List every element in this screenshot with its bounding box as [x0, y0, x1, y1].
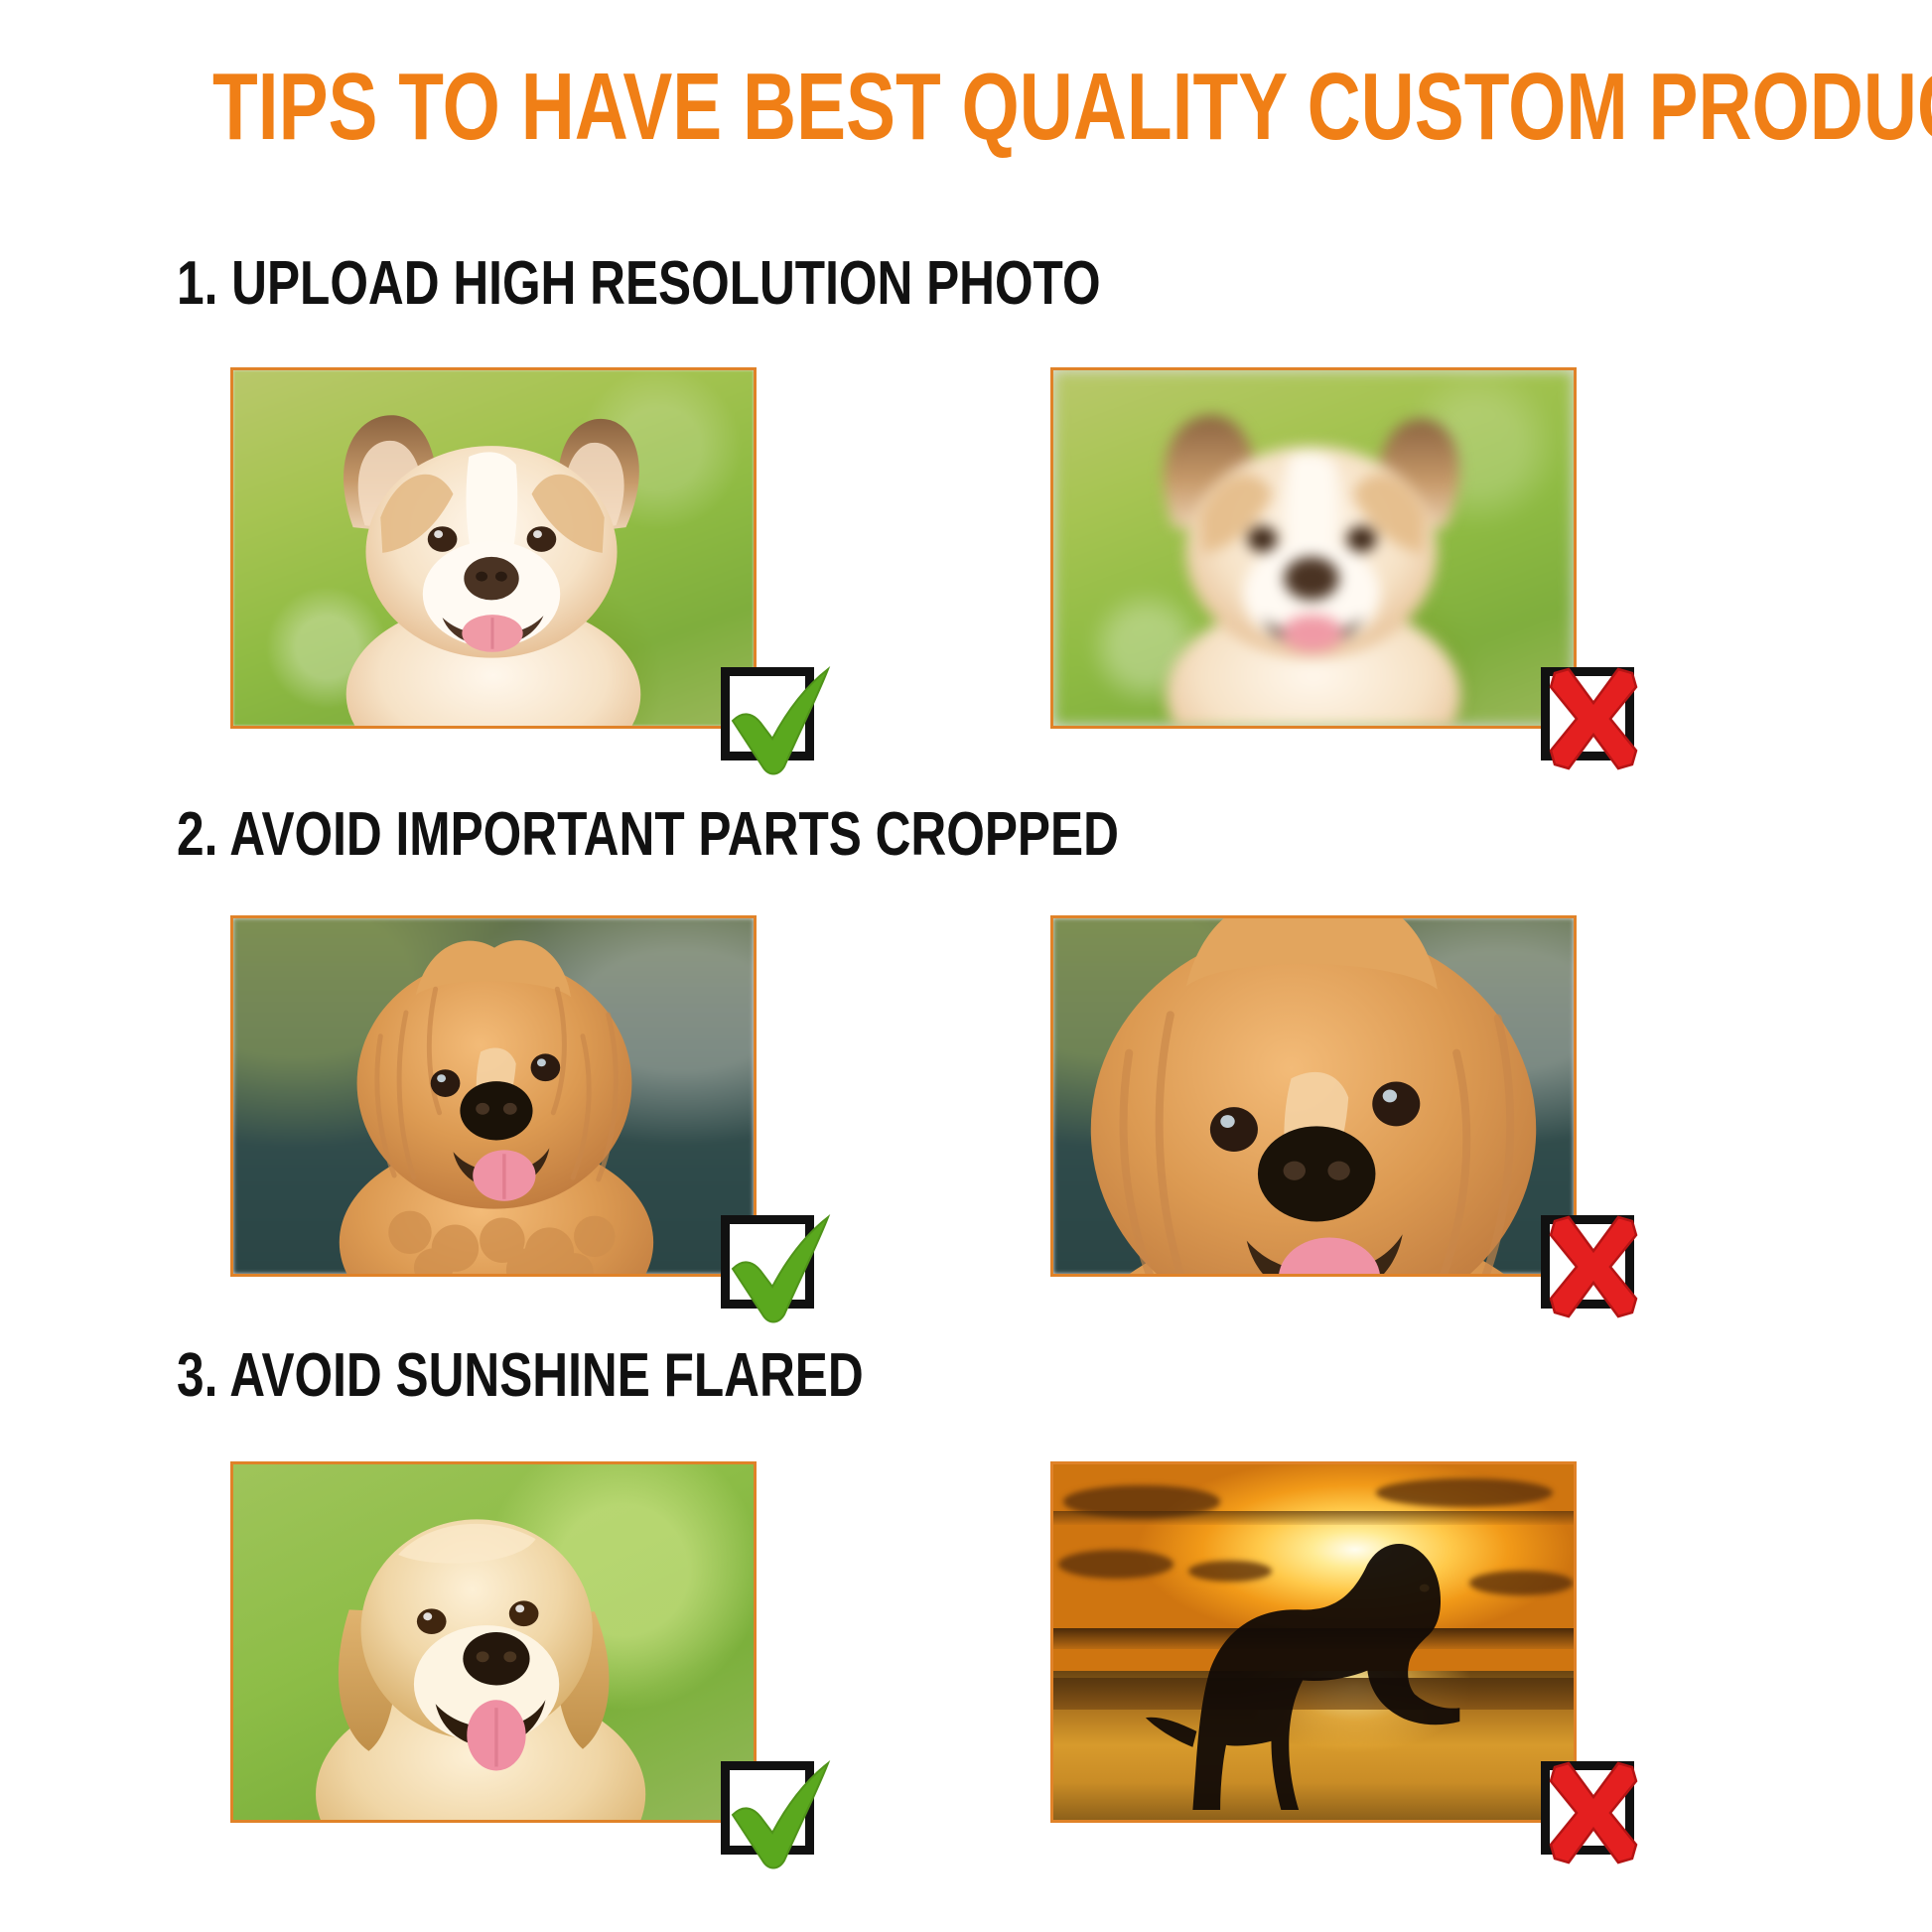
section-heading-1: 1. UPLOAD HIGH RESOLUTION PHOTO: [177, 253, 1101, 315]
photo-good-1: [230, 367, 757, 729]
corgi-illustration-blurred: [1053, 370, 1574, 728]
section-heading-3: 3. AVOID SUNSHINE FLARED: [177, 1345, 864, 1407]
page-title: TIPS TO HAVE BEST QUALITY CUSTOM PRODUCT…: [212, 58, 1720, 158]
photo-bad-2: [1050, 915, 1577, 1277]
dog-silhouette: [1053, 1464, 1574, 1822]
photo-bad-3: [1050, 1461, 1577, 1823]
badge-check-3: [721, 1761, 814, 1855]
badge-cross-1: [1541, 667, 1634, 760]
cross-icon: [1519, 1187, 1668, 1336]
photo-good-2: [230, 915, 757, 1277]
badge-cross-3: [1541, 1761, 1634, 1855]
badge-check-1: [721, 667, 814, 760]
corgi-illustration-sharp: [233, 370, 754, 728]
cross-icon: [1519, 639, 1668, 788]
section-heading-2: 2. AVOID IMPORTANT PARTS CROPPED: [177, 804, 1119, 866]
infographic-page: TIPS TO HAVE BEST QUALITY CUSTOM PRODUCT…: [0, 0, 1932, 1932]
badge-check-2: [721, 1215, 814, 1309]
cavapoo-illustration-full: [233, 918, 754, 1276]
badge-cross-2: [1541, 1215, 1634, 1309]
check-icon: [699, 1187, 848, 1336]
photo-good-3: [230, 1461, 757, 1823]
check-icon: [699, 1733, 848, 1882]
golden-retriever-illustration: [233, 1464, 754, 1822]
cavapoo-illustration-cropped: [1053, 918, 1574, 1276]
check-icon: [699, 639, 848, 788]
photo-bad-1: [1050, 367, 1577, 729]
cross-icon: [1519, 1733, 1668, 1882]
